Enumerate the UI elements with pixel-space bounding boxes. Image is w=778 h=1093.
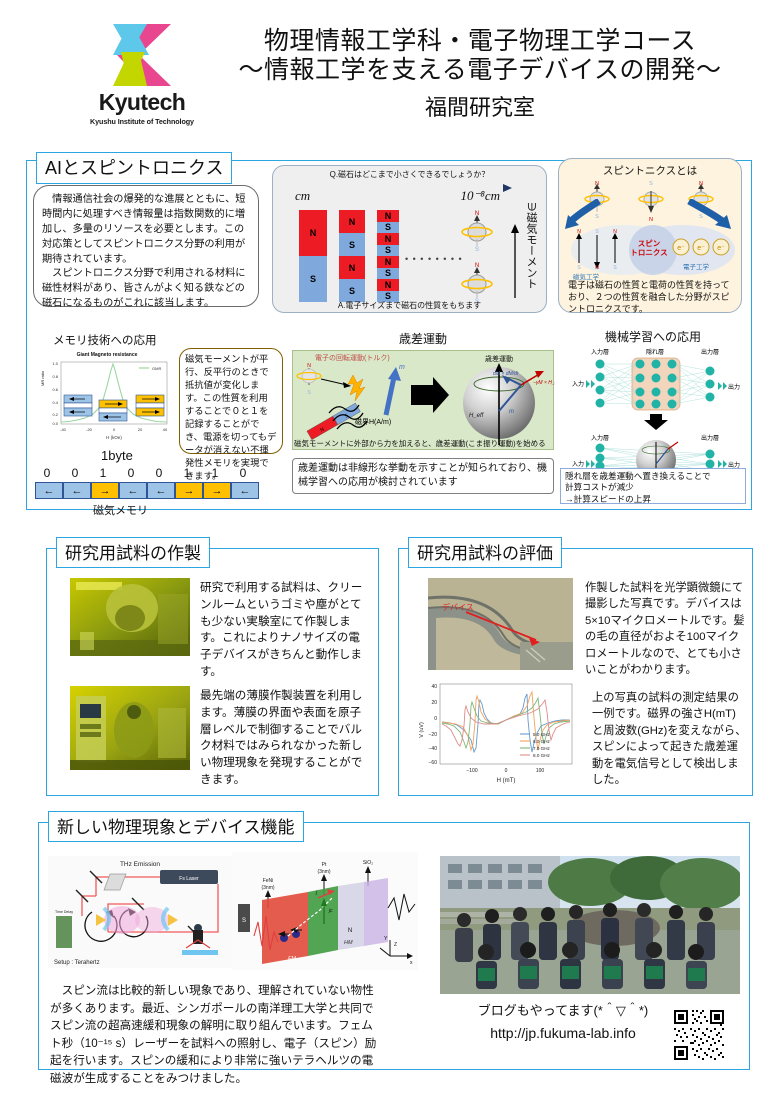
magnet-pole: N	[339, 210, 365, 233]
svg-text:歳差運動: 歳差運動	[485, 354, 513, 363]
gmr-chart: Giant Magneto resistance MR ratio 1.0 0.…	[39, 352, 175, 444]
ml-io-output-top: 出力	[728, 383, 740, 391]
electron-charge-icons: e⁻ e⁻ e⁻	[671, 235, 733, 259]
poster-title-line3: 福間研究室	[222, 90, 738, 122]
spintronics-center-label: スピン トロニクス	[627, 239, 671, 258]
precession-caption: 磁気モーメントに外部から力を加えると、歳差運動(こま振り運動)を始める	[294, 438, 546, 449]
memory-cell: →	[175, 482, 203, 499]
section-evaluation-title: 研究用試料の評価	[408, 537, 562, 568]
magnetic-memory-label: 磁気メモリ	[93, 502, 148, 518]
memory-cell: ←	[63, 482, 91, 499]
panel-magnet-scale: Q.磁石はどこまで小さくできるでしょうか？ cm 10⁻⁸cm N S N S …	[272, 165, 547, 313]
svg-text:7.0 GHz: 7.0 GHz	[533, 746, 551, 751]
svg-text:−100: −100	[466, 768, 477, 774]
svg-text:0: 0	[505, 768, 508, 774]
svg-text:(3nm): (3nm)	[317, 869, 330, 875]
electron-spin-icon-bottom: N S	[451, 258, 505, 304]
svg-text:S: S	[613, 265, 617, 271]
svg-text:V (uV): V (uV)	[419, 722, 425, 738]
precession-note-text: 歳差運動は非線形な挙動を示すことが知られており、機械学習への応用が検討されていま…	[293, 459, 553, 492]
magnetic-memory-cells: ← ← → ← ← → → ←	[35, 482, 259, 499]
ml-title: 機械学習への応用	[560, 328, 746, 345]
precession-figure: 電子の回転運動(トルク) N S N S	[292, 350, 554, 450]
svg-text:−40: −40	[429, 746, 438, 752]
bit-value: 0	[233, 466, 253, 480]
evaluation-photo-microscope: デバイス	[428, 578, 573, 670]
svg-text:−60: −60	[429, 760, 438, 766]
ai-body-box: 情報通信社会の爆発的な進展とともに、短時間内に処理すべき情報量は指数関数的に増加…	[33, 185, 259, 307]
svg-text:磁界H(A/m): 磁界H(A/m)	[355, 417, 391, 426]
poster-title-line1: 物理情報工学科・電子物理工学コース	[222, 27, 738, 57]
ml-note-line1: 隠れ層を歳差運動へ置き換えることで	[565, 471, 741, 482]
svg-text:m: m	[399, 364, 405, 371]
svg-text:S: S	[649, 181, 653, 187]
svg-text:H (mT): H (mT)	[497, 778, 516, 784]
poster-title-block: 物理情報工学科・電子物理工学コース 〜情報工学を支える電子デバイスの開発〜 福間…	[222, 27, 778, 122]
svg-text:e⁻: e⁻	[717, 245, 725, 252]
magnet-pole: S	[377, 245, 399, 257]
blog-line1: ブログもやってます(*＾▽＾*)	[468, 1000, 658, 1019]
new-phenomena-body: スピン流は比較的新しい現象であり、理解されていない物性が多くあります。最近、シン…	[50, 982, 380, 1088]
memory-cell: →	[203, 482, 231, 499]
memory-title: メモリ技術への応用	[53, 332, 157, 348]
svg-text:m: m	[509, 409, 514, 415]
gmr-mtj-annotations	[39, 352, 175, 444]
fabrication-photo-deposition	[70, 686, 190, 770]
memory-cell: ←	[35, 482, 63, 499]
magnet-bar-1: N S	[299, 210, 327, 302]
stack-pole-n: N	[348, 928, 352, 934]
section-fabrication-title: 研究用試料の作製	[56, 537, 210, 568]
electronics-label: 電子工学	[683, 261, 709, 271]
ml-note-line2: 計算コストが減少	[565, 482, 741, 493]
bit-value: 0	[121, 466, 141, 480]
ml-label-output: 出力層	[701, 348, 719, 356]
magnet-bar-2: N S N S	[339, 210, 365, 302]
memory-cell: →	[91, 482, 119, 499]
section-new-phenomena-title: 新しい物理現象とデバイス機能	[48, 811, 304, 842]
bit-value: 0	[65, 466, 85, 480]
evaluation-para2: 上の写真の試料の測定結果の一例です。磁界の強さH(mT)と周波数(GHz)を変え…	[592, 690, 747, 788]
svg-text:5.0 GHz: 5.0 GHz	[533, 732, 551, 737]
spin-rectification-chart-svg: 40 20 0 −20 −40 −60 V (uV) −100 0 100 H …	[410, 678, 585, 788]
memory-cell: ←	[147, 482, 175, 499]
svg-text:(3nm): (3nm)	[261, 885, 274, 891]
stack-label-jc: jc	[328, 908, 333, 914]
thz-setup-caption: Setup : Terahertz	[54, 960, 100, 966]
stack-label-fm: FM	[288, 956, 296, 962]
ml-label-hidden: 隠れ層	[646, 348, 664, 356]
fabrication-para2: 最先端の薄膜作製装置を利用します。薄膜の界面や表面を原子層レベルで制御することで…	[200, 688, 370, 789]
svg-text:100: 100	[536, 768, 545, 774]
thz-laser-label: Fs Laser	[179, 876, 199, 882]
panel-spintronics: スピントニクスとは N S S N N S	[558, 158, 742, 313]
svg-text:8.0 GHz: 8.0 GHz	[533, 753, 551, 758]
magnet-pole: N	[339, 256, 365, 279]
magnet-pole: N	[377, 210, 399, 222]
magnet-answer: A.電子サイズまで磁石の性質をもちます	[273, 300, 546, 311]
memory-note-box: 磁気モーメントが平行、反平行のときで抵抗値が変化します。この性質を利用することで…	[179, 348, 283, 454]
magnet-pole: N	[377, 256, 399, 268]
magnetic-moment-arrow-icon	[509, 224, 521, 298]
magnet-pole: S	[377, 222, 399, 234]
thz-title: THz Emission	[120, 861, 160, 868]
ml-note-box: 隠れ層を歳差運動へ置き換えることで 計算コストが減少 →計算スピードの上昇	[560, 468, 746, 504]
fabrication-para1: 研究で利用する試料は、クリーンルームというゴミや塵がとても少ない実験室にて作製し…	[200, 580, 370, 681]
kyutech-logo: Kyutech Kyushu Institute of Technology	[62, 22, 222, 126]
svg-text:αM × dM/dt: αM × dM/dt	[493, 371, 519, 377]
stack-label-feni: FeNi	[263, 878, 274, 884]
svg-text:S: S	[595, 229, 599, 235]
stack-label-hm: HM	[344, 940, 353, 946]
fabrication-photo-cleanroom	[70, 578, 190, 656]
svg-text:e⁻: e⁻	[697, 245, 705, 252]
bit-value: 0	[37, 466, 57, 480]
magnet-pole: S	[377, 268, 399, 280]
poster-title-line2: 〜情報工学を支える電子デバイスの開発〜	[222, 56, 738, 86]
ml-label-input: 入力層	[591, 348, 609, 356]
group-photo	[440, 856, 740, 994]
memory-cell: ←	[119, 482, 147, 499]
magnet-question: Q.磁石はどこまで小さくできるでしょうか？	[273, 169, 546, 180]
svg-text:−20: −20	[429, 732, 438, 738]
magnet-scale-left: cm	[295, 188, 310, 204]
magnet-pole: N	[377, 233, 399, 245]
magnet-pole: N	[377, 279, 399, 291]
svg-text:0: 0	[434, 716, 437, 722]
spintronics-center-label-1: スピン	[638, 239, 661, 248]
device-stack-figure: FeNi (3nm) Pt (3nm) SiO₂ S N	[232, 852, 418, 970]
magnet-pole: S	[299, 256, 327, 302]
panel-machine-learning: 機械学習への応用 入力層 隠れ層 出力層	[560, 328, 746, 503]
poster-root: Kyutech Kyushu Institute of Technology 物…	[0, 0, 778, 1093]
bit-value: 0	[149, 466, 169, 480]
precession-title: 歳差運動	[292, 330, 554, 347]
magnetics-moment-icons: N S S N N S	[571, 225, 633, 273]
kyutech-logo-subtitle: Kyushu Institute of Technology	[90, 117, 194, 126]
terahertz-setup-figure: THz Emission Fs Laser Time Delay	[48, 856, 232, 968]
panel-memory: メモリ技術への応用 Giant Magneto resistance MR ra…	[33, 330, 285, 502]
blog-info: ブログもやってます(*＾▽＾*) http://jp.fukuma-lab.in…	[468, 1000, 658, 1041]
svg-text:e⁻: e⁻	[677, 245, 685, 252]
svg-text:−γM × H_eff: −γM × H_eff	[533, 380, 555, 386]
spintronics-body-text: 電子は磁石の性質と電荷の性質を持っており、２つの性質を融合した分野がスピントロニ…	[568, 279, 736, 315]
byte-label: 1byte	[101, 448, 133, 463]
kyutech-logo-mark	[99, 22, 185, 88]
svg-text:20: 20	[431, 700, 437, 706]
ml-label-input-bottom: 入力層	[591, 434, 609, 442]
ml-label-output-bottom: 出力層	[701, 434, 719, 442]
magnet-scale-right: 10⁻⁸cm	[460, 188, 500, 204]
svg-text:H_eff: H_eff	[469, 413, 485, 419]
precession-figure-svg: N S N S 磁界H(A/m)	[293, 351, 555, 451]
ml-note-text: 隠れ層を歳差運動へ置き換えることで 計算コストが減少 →計算スピードの上昇	[561, 469, 745, 507]
ml-io-input-bottom: 入力	[572, 460, 584, 468]
evaluation-device-label: デバイス	[442, 602, 474, 612]
svg-text:S: S	[307, 390, 311, 396]
svg-text:S: S	[475, 247, 479, 252]
spin-rectification-chart: 40 20 0 −20 −40 −60 V (uV) −100 0 100 H …	[410, 678, 585, 788]
svg-text:6.0 GHz: 6.0 GHz	[533, 739, 551, 744]
stack-label-pt: Pt	[322, 862, 327, 868]
magnet-pole: S	[339, 233, 365, 256]
poster-header: Kyutech Kyushu Institute of Technology 物…	[0, 0, 778, 132]
stack-axis-x: x	[410, 960, 413, 966]
ml-note-line3: →計算スピードの上昇	[565, 494, 741, 505]
stack-pole-s: S	[242, 918, 246, 924]
electron-spin-icon-top: N S	[451, 206, 505, 252]
blog-url[interactable]: http://jp.fukuma-lab.info	[468, 1025, 658, 1041]
ml-io-input-top: 入力	[572, 380, 584, 388]
memory-cell: ←	[231, 482, 259, 499]
spintronics-title: スピントニクスとは	[559, 163, 741, 178]
evaluation-para1: 作製した試料を光学顕微鏡にて撮影した写真です。デバイスは5×10マイクロメートル…	[585, 580, 745, 678]
bit-value: 1	[205, 466, 225, 480]
magnet-pole: S	[339, 279, 365, 302]
magnetic-moment-label: ∋磁気モーメント	[523, 202, 539, 289]
stack-axis-z: Z	[394, 942, 397, 948]
magnet-pole: N	[299, 210, 327, 256]
panel-precession: 歳差運動 電子の回転運動(トルク) N S N S	[292, 330, 554, 500]
magnet-bar-3: N S N S N S N S	[377, 210, 399, 302]
svg-text:40: 40	[431, 684, 437, 690]
bit-value: 1	[177, 466, 197, 480]
kyutech-logo-text: Kyutech	[99, 89, 186, 116]
qr-code[interactable]	[672, 1008, 726, 1062]
bit-value: 1	[93, 466, 113, 480]
section-ai-title: AIとスピントロニクス	[36, 152, 232, 184]
bit-value-row: 0 0 1 0 0 1 1 0	[37, 466, 253, 480]
ml-network-diagram: 入力層 隠れ層 出力層 入力 出力	[560, 346, 746, 474]
precession-note-box: 歳差運動は非線形な挙動を示すことが知られており、機械学習への応用が検討されていま…	[292, 458, 554, 494]
ai-body-text: 情報通信社会の爆発的な進展とともに、短時間内に処理すべき情報量は指数関数的に増加…	[34, 186, 258, 312]
stack-label-sio2: SiO₂	[363, 860, 373, 866]
thz-delay-label: Time Delay	[55, 910, 73, 914]
spintronics-center-label-2: トロニクス	[630, 248, 667, 257]
